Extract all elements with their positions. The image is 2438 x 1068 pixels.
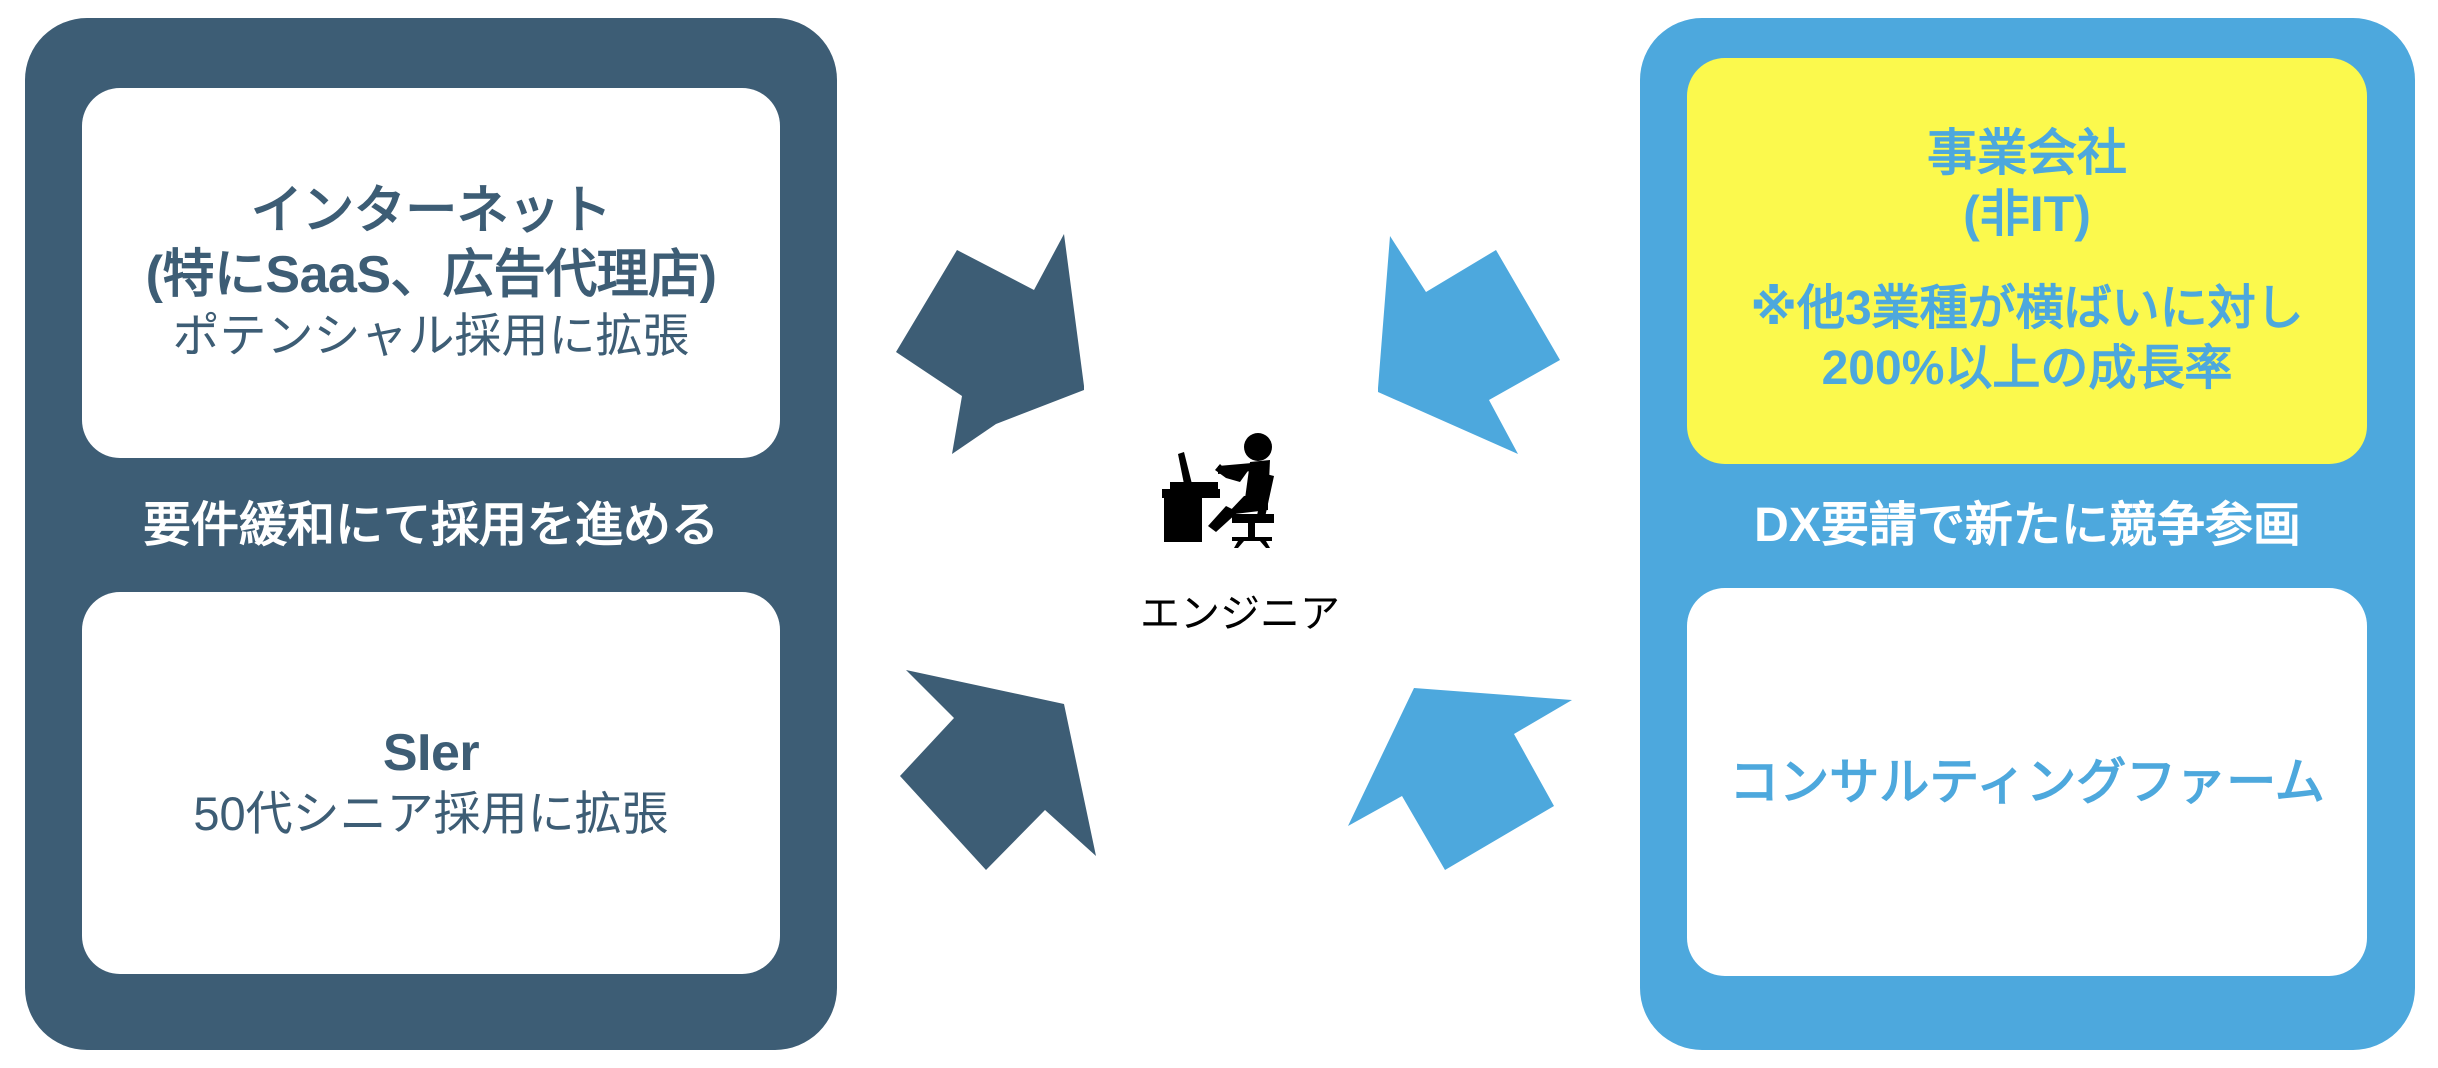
card-jigyo-gaisha[interactable]: 事業会社 (非IT) ※他3業種が横ばいに対し 200%以上の成長率 [1687,58,2367,464]
diagram-canvas: インターネット (特にSaaS、広告代理店) ポテンシャル採用に拡張 要件緩和に… [0,0,2438,1068]
right-band-label: DX要請で新たに競争参画 [1640,502,2415,550]
card-consulting-firm-line1: コンサルティングファーム [1729,752,2325,813]
left-panel: インターネット (特にSaaS、広告代理店) ポテンシャル採用に拡張 要件緩和に… [25,18,837,1050]
card-sier-line1: SIer [383,722,479,785]
card-internet-line3: ポテンシャル採用に拡張 [173,307,690,366]
arrow-bottom-left-icon [888,658,1140,890]
arrow-top-right-icon [1348,228,1600,460]
left-band-label: 要件緩和にて採用を進める [25,502,837,550]
card-internet-line2: (特にSaaS、広告代理店) [146,244,717,307]
engineer-at-desk-icon [1140,430,1340,580]
arrow-bottom-right-icon [1340,658,1602,890]
card-jigyo-gaisha-note-line2: 200%以上の成長率 [1822,339,2233,399]
card-consulting-firm[interactable]: コンサルティングファーム [1687,588,2367,976]
card-jigyo-gaisha-note-line1: ※他3業種が横ばいに対し [1750,279,2303,339]
arrow-top-left-icon [888,228,1140,454]
card-internet-line1: インターネット [251,180,612,243]
card-sier-line2: 50代シニア採用に拡張 [193,785,668,844]
card-jigyo-gaisha-line2: (非IT) [1963,184,2091,245]
card-jigyo-gaisha-line1: 事業会社 [1927,123,2127,184]
card-internet[interactable]: インターネット (特にSaaS、広告代理店) ポテンシャル採用に拡張 [82,88,780,458]
engineer-group: エンジニア [1105,430,1375,650]
engineer-label: エンジニア [1140,594,1340,634]
right-panel: 事業会社 (非IT) ※他3業種が横ばいに対し 200%以上の成長率 DX要請で… [1640,18,2415,1050]
card-sier[interactable]: SIer 50代シニア採用に拡張 [82,592,780,974]
